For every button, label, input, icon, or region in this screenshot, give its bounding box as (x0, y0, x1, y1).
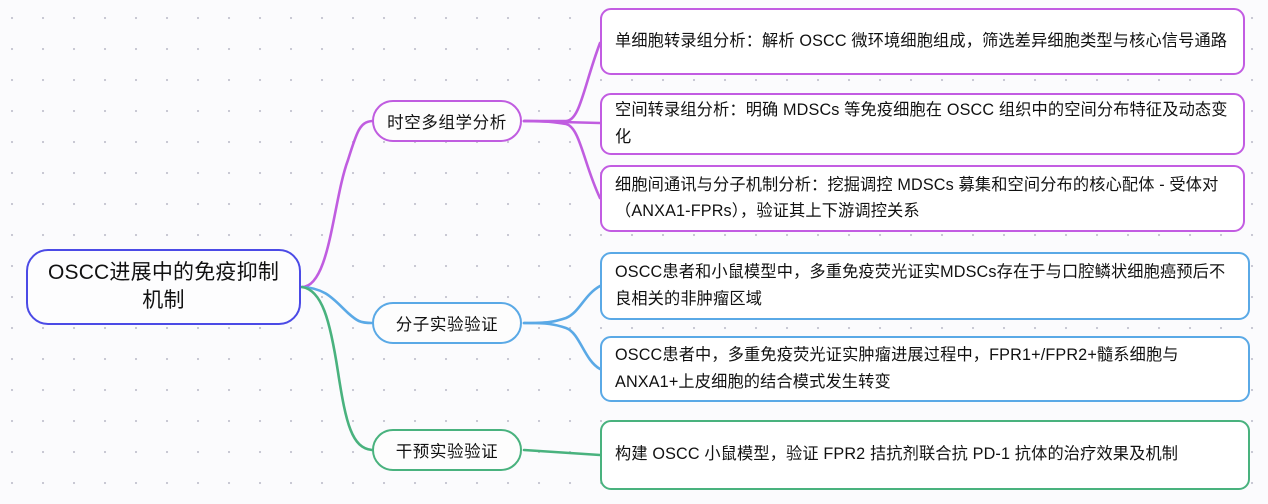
edge-root-to-branch-3 (302, 287, 372, 450)
edge-branch-1-to-leaf-2 (524, 121, 600, 123)
edge-branch-1-to-leaf-3 (524, 121, 600, 198)
leaf-node-label: 单细胞转录组分析：解析 OSCC 微环境细胞组成，筛选差异细胞类型与核心信号通路 (615, 28, 1230, 54)
branch-node-intervention-validation[interactable]: 干预实验验证 (372, 429, 522, 471)
leaf-node-fpr2-antagonist-pd1[interactable]: 构建 OSCC 小鼠模型，验证 FPR2 拮抗剂联合抗 PD-1 抗体的治疗效果… (600, 420, 1250, 490)
leaf-node-label: 空间转录组分析：明确 MDSCs 等免疫细胞在 OSCC 组织中的空间分布特征及… (615, 97, 1230, 149)
leaf-node-cell-communication-mechanism[interactable]: 细胞间通讯与分子机制分析：挖掘调控 MDSCs 募集和空间分布的核心配体 - 受… (600, 165, 1245, 232)
leaf-node-label: OSCC患者和小鼠模型中，多重免疫荧光证实MDSCs存在于与口腔鳞状细胞癌预后不… (615, 259, 1235, 311)
root-node[interactable]: OSCC进展中的免疫抑制机制 (26, 249, 301, 325)
branch-node-label: 干预实验验证 (374, 438, 520, 462)
leaf-node-spatial-transcriptome[interactable]: 空间转录组分析：明确 MDSCs 等免疫细胞在 OSCC 组织中的空间分布特征及… (600, 93, 1245, 155)
edge-branch-3-to-leaf-6 (524, 450, 600, 455)
leaf-node-label: OSCC患者中，多重免疫荧光证实肿瘤进展过程中，FPR1+/FPR2+髓系细胞与… (615, 342, 1235, 394)
leaf-node-label: 细胞间通讯与分子机制分析：挖掘调控 MDSCs 募集和空间分布的核心配体 - 受… (615, 172, 1230, 224)
edge-branch-1-to-leaf-1 (524, 43, 600, 121)
branch-node-label: 分子实验验证 (374, 311, 520, 335)
root-node-label: OSCC进展中的免疫抑制机制 (40, 259, 287, 314)
leaf-node-single-cell-transcriptome[interactable]: 单细胞转录组分析：解析 OSCC 微环境细胞组成，筛选差异细胞类型与核心信号通路 (600, 8, 1245, 75)
edge-root-to-branch-1 (302, 121, 372, 287)
mindmap-canvas: OSCC进展中的免疫抑制机制 时空多组学分析 分子实验验证 干预实验验证 单细胞… (0, 0, 1268, 504)
edge-branch-2-to-leaf-5 (524, 323, 600, 369)
branch-node-label: 时空多组学分析 (374, 109, 520, 133)
branch-node-molecular-validation[interactable]: 分子实验验证 (372, 302, 522, 344)
branch-node-spatiotemporal-multiomics[interactable]: 时空多组学分析 (372, 100, 522, 142)
edge-root-to-branch-2 (302, 287, 372, 323)
leaf-node-mdscs-nontumor-region[interactable]: OSCC患者和小鼠模型中，多重免疫荧光证实MDSCs存在于与口腔鳞状细胞癌预后不… (600, 252, 1250, 320)
leaf-node-fpr-anxa1-binding-shift[interactable]: OSCC患者中，多重免疫荧光证实肿瘤进展过程中，FPR1+/FPR2+髓系细胞与… (600, 336, 1250, 402)
leaf-node-label: 构建 OSCC 小鼠模型，验证 FPR2 拮抗剂联合抗 PD-1 抗体的治疗效果… (615, 441, 1235, 467)
edge-branch-2-to-leaf-4 (524, 286, 600, 323)
